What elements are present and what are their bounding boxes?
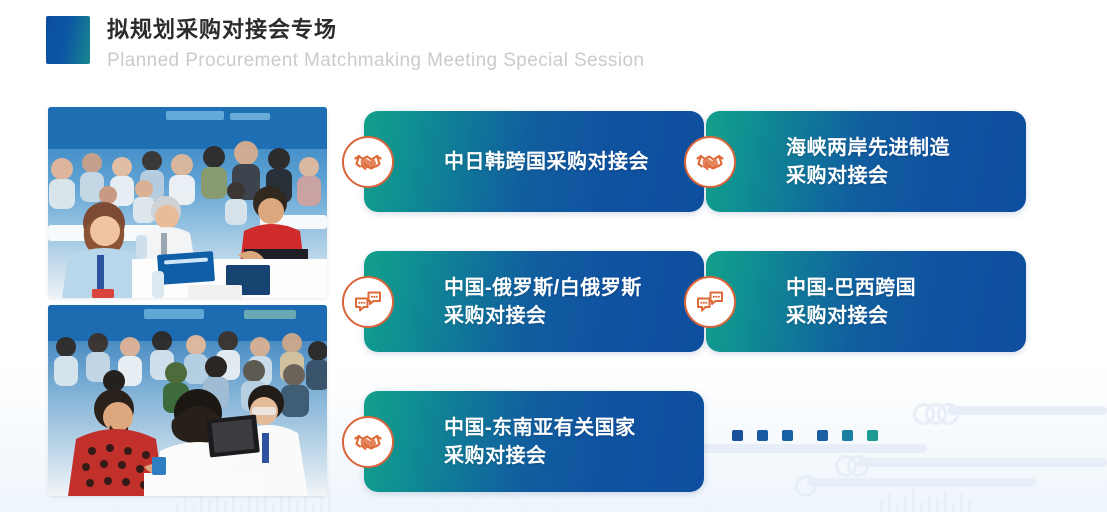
session-card-label: 中国-俄罗斯/白俄罗斯 采购对接会: [444, 274, 656, 330]
session-card-line2: 采购对接会: [444, 442, 636, 470]
dot-3: [782, 430, 793, 441]
dot-5: [842, 430, 853, 441]
session-card-label: 中国-巴西跨国 采购对接会: [786, 274, 930, 330]
page-subtitle: Planned Procurement Matchmaking Meeting …: [107, 48, 644, 74]
handshake-icon: [684, 136, 736, 188]
dot-6: [867, 430, 878, 441]
session-card-cross-strait-manufacturing[interactable]: 海峡两岸先进制造 采购对接会: [706, 111, 1026, 212]
photo-meeting-1: [48, 107, 327, 298]
photo-column: [48, 107, 327, 496]
session-card-line2: 采购对接会: [786, 302, 916, 330]
slide-canvas: 拟规划采购对接会专场 Planned Procurement Matchmaki…: [0, 0, 1107, 512]
dot-group-left: [732, 430, 793, 441]
page-title: 拟规划采购对接会专场: [107, 16, 644, 44]
session-card-grid: 中日韩跨国采购对接会: [340, 100, 1040, 500]
more-sessions-indicator: [732, 430, 878, 441]
session-card-line1: 中国-巴西跨国: [786, 277, 916, 299]
session-card-line1: 中日韩跨国采购对接会: [444, 151, 649, 173]
session-card-china-japan-korea[interactable]: 中日韩跨国采购对接会: [364, 111, 704, 212]
session-card-china-russia-belarus[interactable]: 中国-俄罗斯/白俄罗斯 采购对接会: [364, 251, 704, 352]
handshake-icon: [342, 136, 394, 188]
session-card-line1: 中国-俄罗斯/白俄罗斯: [444, 277, 642, 299]
section-header: 拟规划采购对接会专场 Planned Procurement Matchmaki…: [46, 16, 644, 74]
photo-meeting-2: [48, 305, 327, 496]
header-accent-square: [46, 16, 90, 64]
session-card-china-brazil[interactable]: 中国-巴西跨国 采购对接会: [706, 251, 1026, 352]
handshake-icon: [342, 416, 394, 468]
session-card-line2: 采购对接会: [444, 302, 642, 330]
session-card-label: 中国-东南亚有关国家 采购对接会: [444, 414, 650, 470]
session-card-label: 中日韩跨国采购对接会: [444, 148, 663, 176]
dot-2: [757, 430, 768, 441]
chat-bubbles-icon: [342, 276, 394, 328]
dot-group-right: [817, 430, 878, 441]
dot-1: [732, 430, 743, 441]
session-card-china-southeast-asia[interactable]: 中国-东南亚有关国家 采购对接会: [364, 391, 704, 492]
chat-bubbles-icon: [684, 276, 736, 328]
session-card-line1: 中国-东南亚有关国家: [444, 417, 636, 439]
session-card-line2: 采购对接会: [786, 162, 950, 190]
session-card-label: 海峡两岸先进制造 采购对接会: [786, 134, 964, 190]
dot-4: [817, 430, 828, 441]
session-card-line1: 海峡两岸先进制造: [786, 137, 950, 159]
header-text-block: 拟规划采购对接会专场 Planned Procurement Matchmaki…: [107, 16, 644, 74]
